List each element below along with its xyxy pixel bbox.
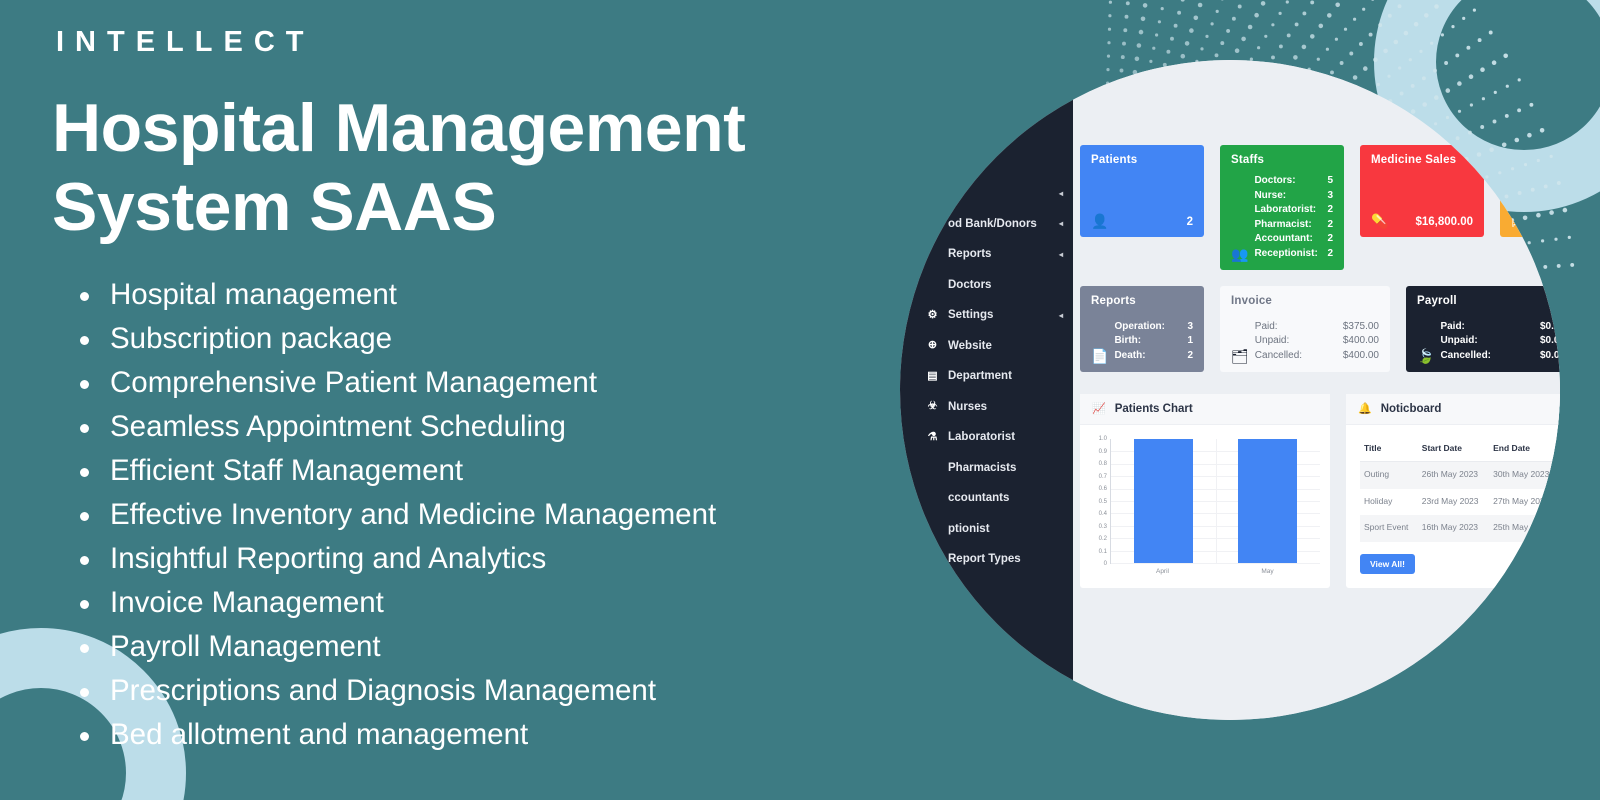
table-cell-title: Sport Event bbox=[1360, 515, 1418, 541]
card-kv-key: Accountant: bbox=[1254, 232, 1312, 247]
brand-logo: INTELLECT bbox=[52, 14, 932, 57]
card-kv-key: Paid: bbox=[1440, 320, 1464, 335]
table-col-header: Start Date bbox=[1418, 439, 1489, 462]
sidebar-item-label: Doctors bbox=[948, 279, 1054, 291]
patients-chart-plot-area: 1.00.90.80.70.60.50.40.30.20.10 bbox=[1088, 439, 1320, 564]
card-patients[interactable]: Patients 👤 2 bbox=[1080, 145, 1204, 237]
table-cell-title: Outing bbox=[1360, 462, 1418, 489]
chart-y-axis: 1.00.90.80.70.60.50.40.30.20.10 bbox=[1088, 439, 1110, 564]
chart-x-axis: AprilMay bbox=[1110, 568, 1320, 575]
chevron-left-icon: ◂ bbox=[1059, 219, 1063, 228]
sidebar-item-label: Department bbox=[948, 370, 1054, 382]
feature-item: Comprehensive Patient Management bbox=[110, 361, 932, 405]
card-payroll[interactable]: Payroll 🍃 Paid:$0.00Unpaid:$0.00Cancelle… bbox=[1406, 286, 1560, 372]
noticeboard-title: Noticboard bbox=[1381, 403, 1442, 415]
patients-chart-body: 1.00.90.80.70.60.50.40.30.20.10 AprilMay bbox=[1080, 425, 1330, 572]
view-all-button[interactable]: View All! bbox=[1360, 554, 1415, 574]
card-kv-value: $0.00 bbox=[1540, 349, 1560, 364]
card-kv-key: Unpaid: bbox=[1440, 334, 1477, 349]
card-kv-key: Operation: bbox=[1114, 320, 1165, 335]
sidebar-item-label: ptionist bbox=[948, 523, 1054, 535]
card-payroll-rows: Paid:$0.00Unpaid:$0.00Cancelled:$0.00 bbox=[1440, 320, 1560, 364]
card-kv-value: $400.00 bbox=[1343, 334, 1379, 349]
chevron-left-icon: ◂ bbox=[1059, 189, 1063, 198]
table-body: Outing26th May 202330th May 2023👁Holiday… bbox=[1360, 462, 1560, 542]
card-kv-value: $375.00 bbox=[1343, 320, 1379, 335]
stat-card-row-1: Patients 👤 2 Staffs 👥 Doctors:5Nurse:3La… bbox=[1080, 145, 1560, 270]
bed-icon: 🛏 bbox=[1511, 214, 1529, 228]
chart-y-tick: 0.4 bbox=[1099, 511, 1107, 517]
card-kv-row: Paid:$375.00 bbox=[1255, 320, 1379, 335]
feature-item: Effective Inventory and Medicine Managem… bbox=[110, 493, 932, 537]
pills-icon: 💊 bbox=[1371, 214, 1388, 228]
card-kv-row: Operation:3 bbox=[1114, 320, 1193, 335]
chart-y-tick: 0.3 bbox=[1099, 524, 1107, 530]
card-invoice-title: Invoice bbox=[1231, 295, 1379, 307]
card-invoice[interactable]: Invoice 🗂 Paid:$375.00Unpaid:$400.00Canc… bbox=[1220, 286, 1390, 372]
card-kv-row: Doctors:5 bbox=[1254, 174, 1333, 189]
card-kv-value: 2 bbox=[1327, 232, 1333, 247]
card-kv-row: Birth:1 bbox=[1114, 334, 1193, 349]
bar-chart-icon: 📈 bbox=[1092, 404, 1106, 415]
card-kv-value: 2 bbox=[1327, 218, 1333, 233]
card-kv-key: Doctors: bbox=[1254, 174, 1295, 189]
card-kv-value: $0.00 bbox=[1540, 334, 1560, 349]
card-reports-rows: Operation:3Birth:1Death:2 bbox=[1114, 320, 1193, 364]
chart-y-tick: 0.8 bbox=[1099, 461, 1107, 467]
table-col-header: Title bbox=[1360, 439, 1418, 462]
card-kv-value: $400.00 bbox=[1343, 349, 1379, 364]
table-header-row: TitleStart DateEnd DateView bbox=[1360, 439, 1560, 462]
card-kv-row: Death:2 bbox=[1114, 349, 1193, 364]
sidebar-item-label: ccountants bbox=[948, 492, 1054, 504]
card-kv-row: Cancelled:$0.00 bbox=[1440, 349, 1560, 364]
card-kv-key: Cancelled: bbox=[1440, 349, 1491, 364]
chart-gridline bbox=[1216, 439, 1217, 563]
card-kv-key: Laboratorist: bbox=[1254, 203, 1316, 218]
marketing-content: INTELLECT Hospital Management System SAA… bbox=[52, 14, 932, 757]
table-cell-end: 25th May 2023 bbox=[1489, 515, 1560, 541]
patients-chart-panel: 📈 Patients Chart 1.00.90.80.70.60.50.40.… bbox=[1080, 394, 1330, 588]
sidebar-item-label: Nurses bbox=[948, 401, 1054, 413]
card-beds[interactable]: 🛏 bbox=[1500, 145, 1560, 237]
card-kv-value: 3 bbox=[1187, 320, 1193, 335]
card-reports-title: Reports bbox=[1091, 295, 1193, 307]
card-kv-row: Pharmacist:2 bbox=[1254, 218, 1333, 233]
sidebar-item-label: Pharmacists bbox=[948, 462, 1054, 474]
file-report-icon: 📄 bbox=[1091, 349, 1108, 363]
table-cell-start: 16th May 2023 bbox=[1418, 515, 1489, 541]
card-kv-row: Accountant:2 bbox=[1254, 232, 1333, 247]
patients-chart-title: Patients Chart bbox=[1115, 403, 1193, 415]
person-icon: 👤 bbox=[1091, 214, 1108, 228]
chart-x-tick: April bbox=[1110, 568, 1215, 575]
chart-gridline bbox=[1111, 563, 1320, 564]
feature-item: Insightful Reporting and Analytics bbox=[110, 537, 932, 581]
table-row: Sport Event16th May 202325th May 2023👁 bbox=[1360, 515, 1560, 541]
card-kv-key: Cancelled: bbox=[1255, 349, 1302, 364]
sidebar-item-label: rd bbox=[948, 187, 1050, 199]
card-kv-key: Paid: bbox=[1255, 320, 1278, 335]
feature-item: Efficient Staff Management bbox=[110, 449, 932, 493]
card-kv-key: Death: bbox=[1114, 349, 1145, 364]
feature-item: Prescriptions and Diagnosis Management bbox=[110, 669, 932, 713]
card-kv-key: Nurse: bbox=[1254, 189, 1286, 204]
card-kv-value: 3 bbox=[1327, 189, 1333, 204]
card-kv-value: 2 bbox=[1327, 203, 1333, 218]
feature-item: Hospital management bbox=[110, 273, 932, 317]
card-kv-row: Cancelled:$400.00 bbox=[1255, 349, 1379, 364]
feature-item: Subscription package bbox=[110, 317, 932, 361]
table-cell-start: 23rd May 2023 bbox=[1418, 489, 1489, 515]
card-medicine-sales[interactable]: Medicine Sales 💊 $16,800.00 bbox=[1360, 145, 1484, 237]
chart-y-tick: 0.9 bbox=[1099, 449, 1107, 455]
chart-bar bbox=[1238, 439, 1297, 563]
sidebar-item-label: od Bank/Donors bbox=[948, 218, 1050, 230]
card-kv-value: 1 bbox=[1187, 334, 1193, 349]
card-kv-key: Pharmacist: bbox=[1254, 218, 1311, 233]
card-patients-value: 2 bbox=[1187, 216, 1193, 228]
card-kv-row: Paid:$0.00 bbox=[1440, 320, 1560, 335]
table-cell-title: Holiday bbox=[1360, 489, 1418, 515]
card-medicine-title: Medicine Sales bbox=[1371, 154, 1473, 166]
table-col-header: End Date bbox=[1489, 439, 1560, 462]
feature-item: Seamless Appointment Scheduling bbox=[110, 405, 932, 449]
card-reports[interactable]: Reports 📄 Operation:3Birth:1Death:2 bbox=[1080, 286, 1204, 372]
card-kv-row: Unpaid:$0.00 bbox=[1440, 334, 1560, 349]
table-row: Holiday23rd May 202327th May 2023👁 bbox=[1360, 489, 1560, 515]
card-kv-key: Unpaid: bbox=[1255, 334, 1289, 349]
card-kv-value: 2 bbox=[1327, 247, 1333, 262]
chart-y-tick: 0.7 bbox=[1099, 474, 1107, 480]
card-payroll-title: Payroll bbox=[1417, 295, 1560, 307]
noticeboard-body: TitleStart DateEnd DateView Outing26th M… bbox=[1346, 425, 1560, 588]
sidebar-item-label: Website bbox=[948, 340, 1054, 352]
card-medicine-value: $16,800.00 bbox=[1415, 216, 1473, 228]
card-kv-key: Birth: bbox=[1114, 334, 1141, 349]
card-kv-row: Nurse:3 bbox=[1254, 189, 1333, 204]
chart-y-tick: 0 bbox=[1104, 561, 1107, 567]
card-kv-key: Receptionist: bbox=[1254, 247, 1317, 262]
feature-item: Payroll Management bbox=[110, 625, 932, 669]
chart-x-tick: May bbox=[1215, 568, 1320, 575]
card-kv-row: Receptionist:2 bbox=[1254, 247, 1333, 262]
chevron-left-icon: ◂ bbox=[1059, 311, 1063, 320]
people-group-icon: 👥 bbox=[1231, 247, 1248, 261]
page-title: Hospital Management System SAAS bbox=[52, 89, 932, 247]
card-invoice-rows: Paid:$375.00Unpaid:$400.00Cancelled:$400… bbox=[1255, 320, 1379, 364]
feature-list: Hospital managementSubscription packageC… bbox=[52, 273, 932, 757]
card-kv-value: 5 bbox=[1327, 174, 1333, 189]
noticeboard-panel: 🔔 Noticboard TitleStart DateEnd DateView… bbox=[1346, 394, 1560, 588]
chart-bar bbox=[1134, 439, 1193, 563]
table-cell-end: 27th May 2023 bbox=[1489, 489, 1560, 515]
table-cell-end: 30th May 2023 bbox=[1489, 462, 1560, 489]
patients-chart-header: 📈 Patients Chart bbox=[1080, 394, 1330, 425]
invoice-note-icon: 🗂 bbox=[1231, 349, 1249, 363]
chart-y-tick: 0.1 bbox=[1099, 549, 1107, 555]
table-cell-start: 26th May 2023 bbox=[1418, 462, 1489, 489]
table-row: Outing26th May 202330th May 2023👁 bbox=[1360, 462, 1560, 489]
dashboard-preview: rd◂od Bank/Donors◂Reports◂Doctors⚙Settin… bbox=[900, 60, 1560, 720]
noticeboard-header: 🔔 Noticboard bbox=[1346, 394, 1560, 425]
sidebar-item-label: Report Types bbox=[948, 553, 1054, 565]
card-staffs[interactable]: Staffs 👥 Doctors:5Nurse:3Laboratorist:2P… bbox=[1220, 145, 1344, 270]
chart-y-tick: 0.6 bbox=[1099, 486, 1107, 492]
sidebar-item-label: Reports bbox=[948, 248, 1050, 260]
card-kv-value: 2 bbox=[1187, 349, 1193, 364]
leaf-icon: 🍃 bbox=[1417, 349, 1434, 363]
feature-item: Bed allotment and management bbox=[110, 713, 932, 757]
card-kv-row: Unpaid:$400.00 bbox=[1255, 334, 1379, 349]
card-patients-title: Patients bbox=[1091, 154, 1193, 166]
sidebar-item-label: Settings bbox=[948, 309, 1050, 321]
bell-icon: 🔔 bbox=[1358, 404, 1372, 415]
dashboard-main: Patients 👤 2 Staffs 👥 Doctors:5Nurse:3La… bbox=[1073, 60, 1560, 720]
chart-y-tick: 0.2 bbox=[1099, 536, 1107, 542]
card-staffs-rows: Doctors:5Nurse:3Laboratorist:2Pharmacist… bbox=[1254, 174, 1333, 261]
dashboard-panels: 📈 Patients Chart 1.00.90.80.70.60.50.40.… bbox=[1080, 394, 1560, 588]
stat-card-row-2: Reports 📄 Operation:3Birth:1Death:2 Invo… bbox=[1080, 286, 1560, 372]
chart-plot bbox=[1110, 439, 1320, 564]
card-staffs-title: Staffs bbox=[1231, 154, 1333, 166]
card-kv-row: Laboratorist:2 bbox=[1254, 203, 1333, 218]
card-kv-value: $0.00 bbox=[1540, 320, 1560, 335]
chevron-left-icon: ◂ bbox=[1059, 250, 1063, 259]
feature-item: Invoice Management bbox=[110, 581, 932, 625]
sidebar-item-label: Laboratorist bbox=[948, 431, 1054, 443]
chart-y-tick: 0.5 bbox=[1099, 499, 1107, 505]
chart-y-tick: 1.0 bbox=[1099, 436, 1107, 442]
noticeboard-table: TitleStart DateEnd DateView Outing26th M… bbox=[1360, 439, 1560, 542]
